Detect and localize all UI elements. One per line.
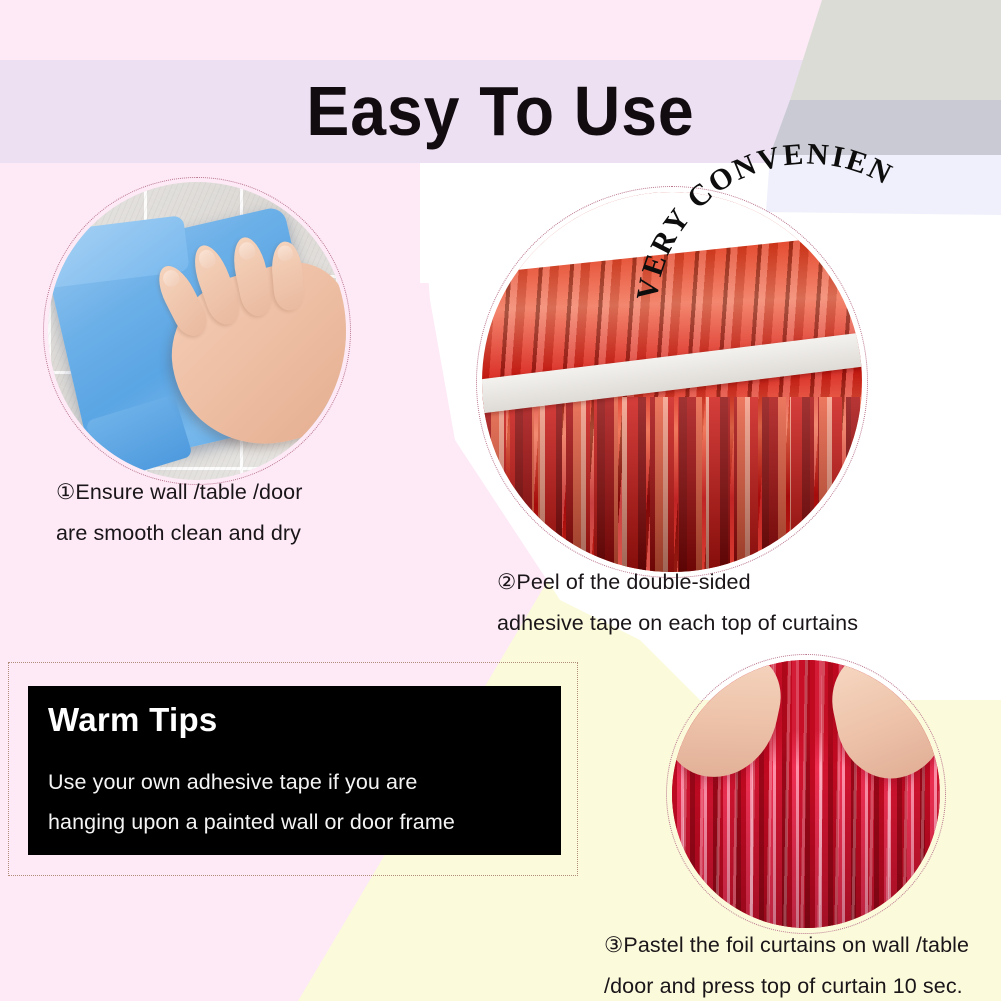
step-1-caption: ①Ensure wall /table /door are smooth cle… bbox=[56, 472, 302, 554]
step-2-caption: ②Peel of the double-sided adhesive tape … bbox=[497, 562, 858, 644]
red-foil-fringe bbox=[482, 397, 862, 572]
step-1-caption-line-1: ①Ensure wall /table /door bbox=[56, 472, 302, 513]
infographic-page: Easy To Use VERY CONVENIENT bbox=[0, 0, 1001, 1001]
step-1-caption-line-2: are smooth clean and dry bbox=[56, 513, 302, 554]
step-3-caption-line-2: /door and press top of curtain 10 sec. bbox=[604, 966, 969, 1001]
warm-tips-title: Warm Tips bbox=[48, 698, 218, 742]
step-2-caption-line-1: ②Peel of the double-sided bbox=[497, 562, 858, 603]
fingernail bbox=[277, 246, 294, 262]
warm-tips-body: Use your own adhesive tape if you are ha… bbox=[48, 762, 455, 842]
fingernail bbox=[160, 268, 182, 290]
step-3-caption-line-1: ③Pastel the foil curtains on wall /table bbox=[604, 925, 969, 966]
warm-tips-line-1: Use your own adhesive tape if you are bbox=[48, 762, 455, 802]
fingernail bbox=[237, 241, 257, 261]
step-1-photo bbox=[48, 182, 346, 480]
step-3-caption: ③Pastel the foil curtains on wall /table… bbox=[604, 925, 969, 1001]
step-2-photo bbox=[482, 192, 862, 572]
step-3-photo bbox=[672, 660, 940, 928]
page-title: Easy To Use bbox=[40, 66, 961, 156]
warm-tips-line-2: hanging upon a painted wall or door fram… bbox=[48, 802, 455, 842]
fingernail bbox=[196, 248, 218, 271]
step-2-caption-line-2: adhesive tape on each top of curtains bbox=[497, 603, 858, 644]
